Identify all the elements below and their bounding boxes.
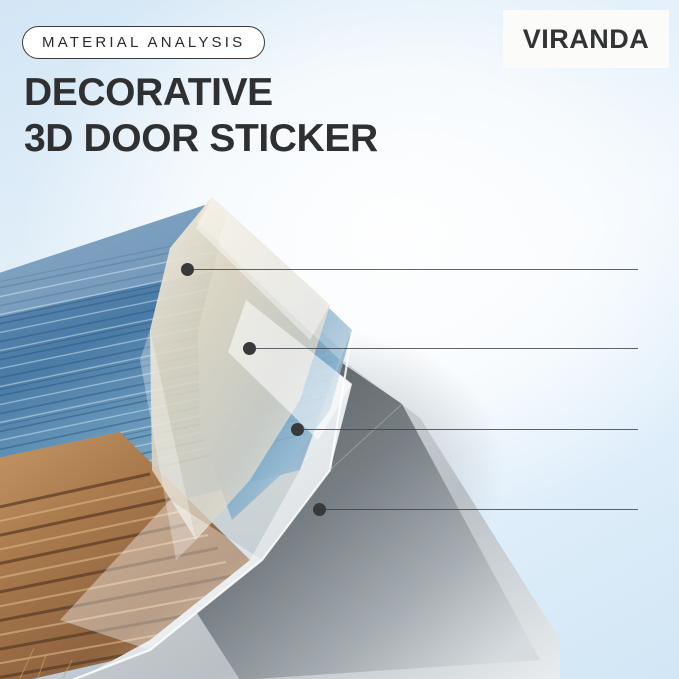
callout-dot-backing bbox=[313, 503, 326, 516]
callout-dot-bonding bbox=[291, 423, 304, 436]
leader-line-bonding bbox=[303, 429, 638, 430]
brand-logo-text: VIRANDA bbox=[523, 24, 650, 55]
page-title: DECORATIVE 3D DOOR STICKER bbox=[24, 70, 378, 161]
callout-dot-waterproof bbox=[181, 263, 194, 276]
title-line-2: 3D DOOR STICKER bbox=[24, 116, 378, 162]
callout-dot-hd-pattern bbox=[243, 342, 256, 355]
badge-label: MATERIAL ANALYSIS bbox=[42, 34, 245, 51]
leader-line-backing bbox=[325, 509, 638, 510]
leader-line-waterproof bbox=[193, 269, 638, 270]
poster-canvas: MATERIAL ANALYSIS DECORATIVE 3D DOOR STI… bbox=[0, 0, 679, 679]
material-analysis-badge: MATERIAL ANALYSIS bbox=[22, 26, 265, 59]
leader-line-hd-pattern bbox=[255, 348, 638, 349]
title-line-1: DECORATIVE bbox=[24, 70, 378, 116]
brand-logo: VIRANDA bbox=[503, 10, 669, 68]
